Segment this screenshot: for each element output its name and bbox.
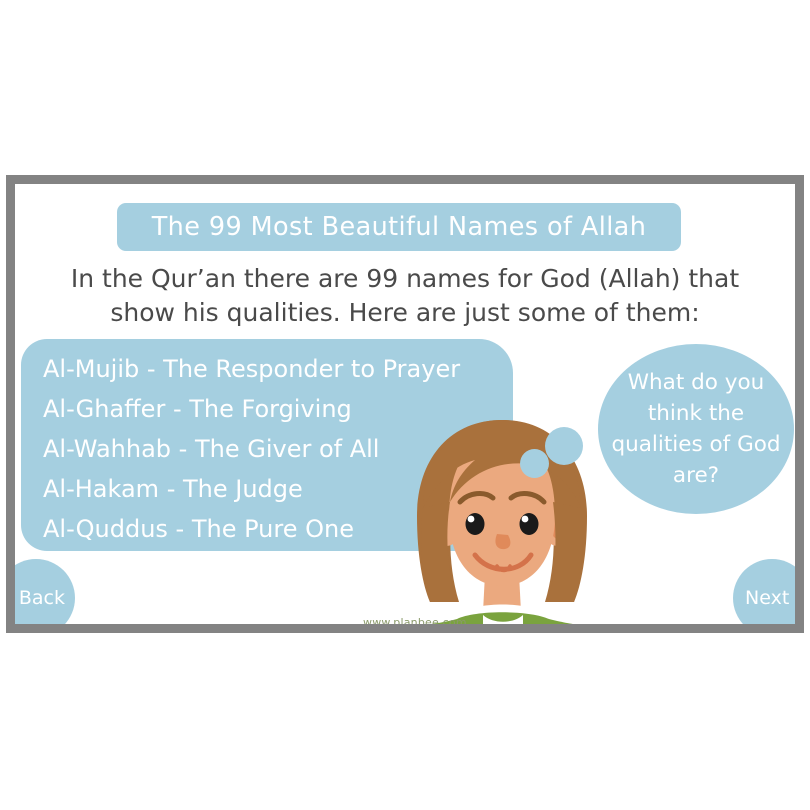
slide-frame: The 99 Most Beautiful Names of Allah In … [6, 175, 804, 633]
watermark: www.planbee.com [363, 616, 467, 624]
slide-canvas: The 99 Most Beautiful Names of Allah In … [15, 184, 795, 624]
title-banner: The 99 Most Beautiful Names of Allah [117, 203, 681, 251]
thought-bubble-text: What do you think the qualities of God a… [598, 367, 794, 491]
eye-right [520, 513, 539, 535]
eye-highlight-right [522, 516, 529, 523]
eye-left [466, 513, 485, 535]
next-button-label: Next [745, 587, 789, 609]
page-title: The 99 Most Beautiful Names of Allah [152, 212, 647, 242]
thought-bubble: What do you think the qualities of God a… [598, 344, 794, 514]
eye-highlight-left [468, 516, 475, 523]
next-button[interactable]: Next [733, 559, 795, 624]
list-item: Al-Mujib - The Responder to Prayer [43, 349, 507, 389]
back-button[interactable]: Back [15, 559, 75, 624]
thought-bubble-dot-large [545, 427, 583, 465]
back-button-label: Back [19, 587, 65, 609]
nose [495, 534, 510, 549]
thought-bubble-dot-small [520, 449, 549, 478]
intro-paragraph: In the Qur’an there are 99 names for God… [55, 262, 755, 330]
